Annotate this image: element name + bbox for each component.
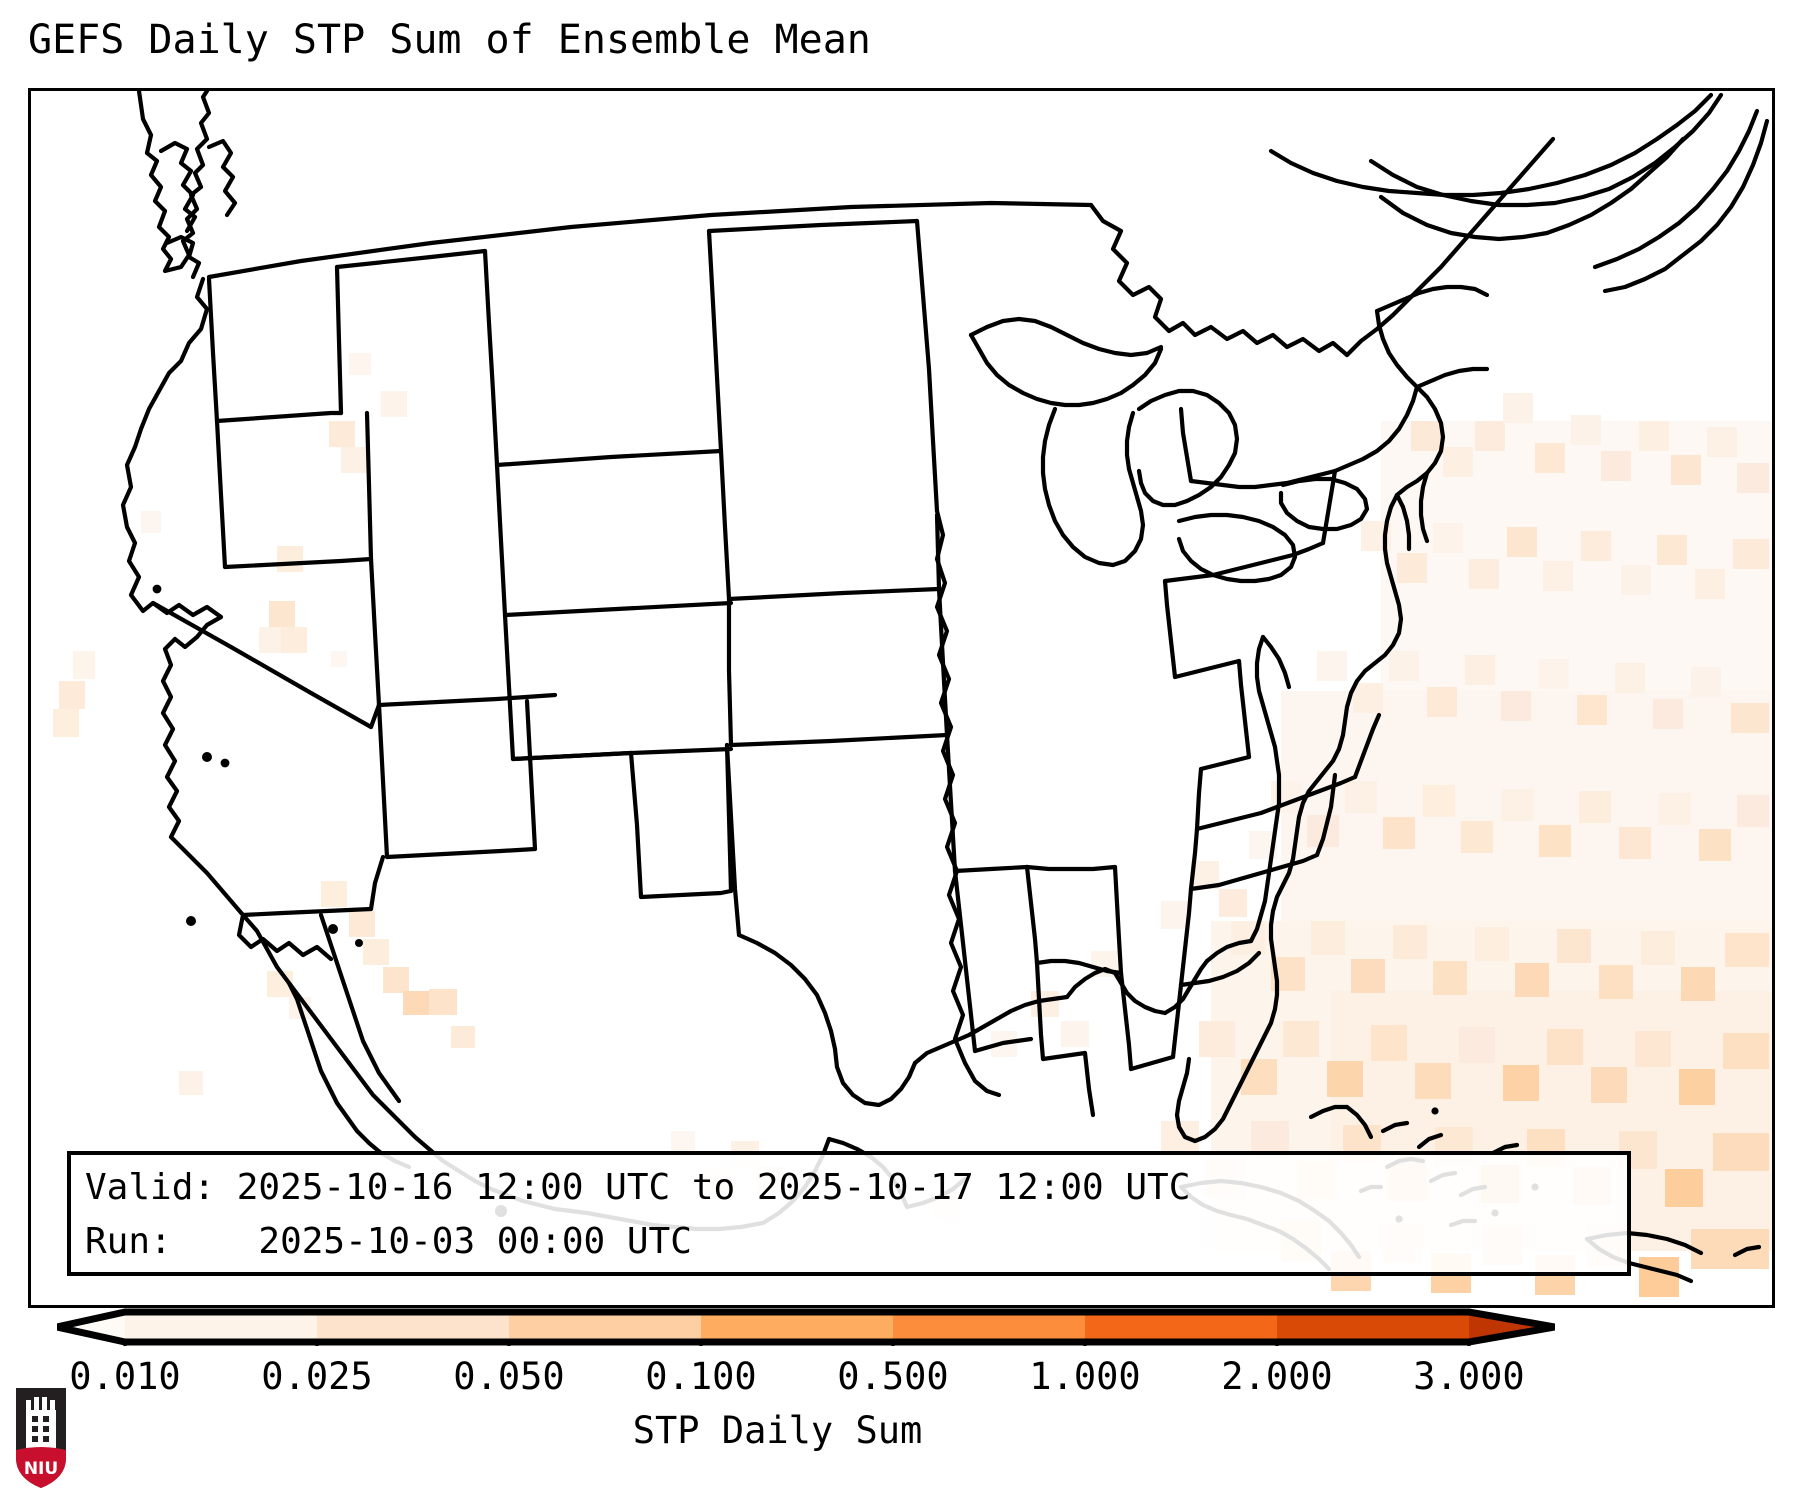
map-panel[interactable]: Valid: 2025-10-16 12:00 UTC to 2025-10-1… <box>28 88 1775 1308</box>
run-time-line: Run: 2025-10-03 00:00 UTC <box>85 1215 1613 1269</box>
colorbar-axis-label: STP Daily Sum <box>0 1408 1555 1454</box>
map-outlines <box>31 91 1772 1305</box>
colorbar-tick-label: 0.050 <box>453 1355 564 1399</box>
valid-run-info-box: Valid: 2025-10-16 12:00 UTC to 2025-10-1… <box>67 1151 1631 1276</box>
page-title: GEFS Daily STP Sum of Ensemble Mean <box>28 16 871 64</box>
colorbar-tick-labels: 0.010 0.025 0.050 0.100 0.500 1.000 2.00… <box>0 1355 1803 1401</box>
colorbar-tick-label: 0.100 <box>645 1355 756 1399</box>
colorbar[interactable] <box>57 1308 1555 1346</box>
colorbar-tick-label: 3.000 <box>1413 1355 1524 1399</box>
colorbar-tick-label: 0.025 <box>261 1355 372 1399</box>
colorbar-tick-label: 1.000 <box>1029 1355 1140 1399</box>
colorbar-tick-label: 2.000 <box>1221 1355 1332 1399</box>
niu-shield-logo: NIU <box>14 1386 68 1490</box>
colorbar-tick-label: 0.500 <box>837 1355 948 1399</box>
niu-wordmark: NIU <box>24 1459 58 1479</box>
valid-time-line: Valid: 2025-10-16 12:00 UTC to 2025-10-1… <box>85 1161 1613 1215</box>
colorbar-segments <box>125 1312 1469 1342</box>
colorbar-tick-label: 0.010 <box>69 1355 180 1399</box>
